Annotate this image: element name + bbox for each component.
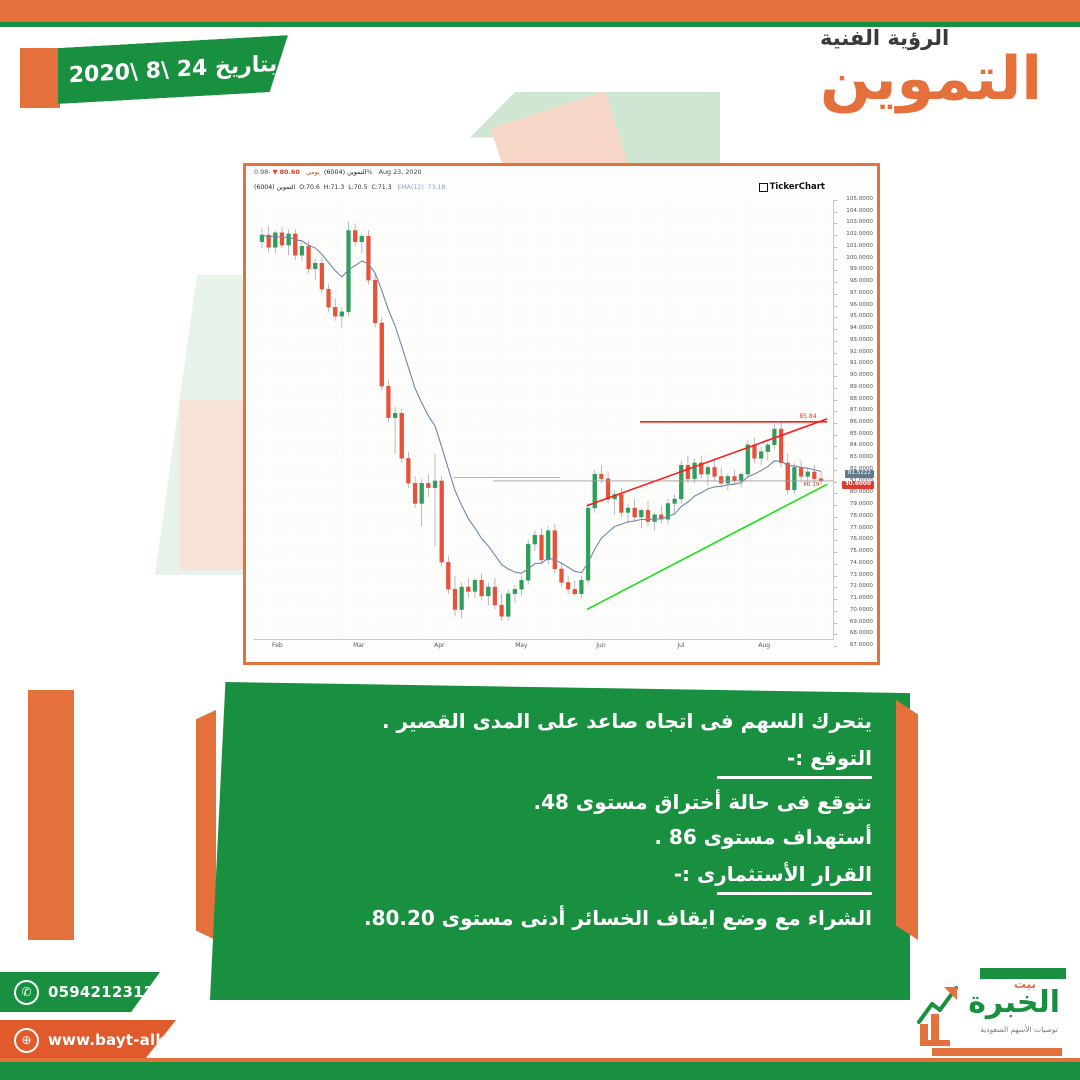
price-axis-tick [834,493,837,494]
price-axis-label: 69.0000 [850,620,873,626]
price-axis-tick [834,482,837,483]
statement-line-4: الشراء مع وضع ايقاف الخسائر أدنى مستوى 8… [210,907,872,930]
price-axis-tick [834,259,837,260]
watermark-shape-4 [180,400,250,570]
ema-price-badge: 81.5222 [845,470,874,478]
price-axis-tick [834,623,837,624]
price-axis-label: 78.0000 [850,514,873,520]
brand-main-word: الخبرة [968,988,1060,1018]
time-axis-label: Mar [353,643,364,649]
statement-heading-2: القرار الأستثمارى :- [210,863,872,886]
price-axis-tick [834,388,837,389]
resistance-price-label: 85.84 [799,414,816,420]
ema-value: 73.18 [428,184,446,191]
price-axis-tick [834,540,837,541]
time-axis-label: Jun [596,643,605,649]
price-axis-label: 80.0000 [850,490,873,496]
channel-upper-trendline [587,419,827,506]
statement-panel: يتحرك السهم فى اتجاه صاعد على المدى القص… [210,682,910,1000]
price-axis-label: 79.0000 [850,502,873,508]
title-main: التموين [820,51,1042,108]
ohlc-close: C:71.3 [371,184,391,191]
price-axis-label: 74.0000 [850,561,873,567]
chart-quote-line: التموين (6004) يومي 80.60 ▼ -0.98% Aug 2… [254,169,422,175]
statement-rule-2 [717,892,872,895]
time-axis-label: May [515,643,527,649]
chart-grid [254,200,833,640]
last-price-badge: 80.6000 [842,481,874,490]
ohlc-low: L:70.5 [348,184,367,191]
whatsapp-contact[interactable]: ✆ 0594212312 [0,972,160,1012]
ema-label: EMA(12) [398,184,424,191]
price-axis-tick [834,411,837,412]
chart-timeframe: يومي [306,168,320,176]
date-badge: بتاريخ 24 \8 \2020 [58,35,288,104]
price-axis-tick [834,282,837,283]
price-axis-label: 72.0000 [850,584,873,590]
green-panel-right-sliver [896,700,918,940]
website-url: www.bayt-alkhebra.org [48,1031,251,1049]
price-axis-label: 100.0000 [846,256,873,262]
website-contact[interactable]: ⊕ www.bayt-alkhebra.org [0,1020,176,1060]
price-axis-tick [834,646,837,647]
price-axis-label: 105.0000 [846,197,873,203]
price-axis-tick [834,599,837,600]
price-axis-tick [834,552,837,553]
price-axis-tick [834,200,837,201]
price-axis-label: 67.0000 [850,643,873,649]
statement-line-3: أستهداف مستوى 86 . [210,826,872,849]
price-axis-label: 97.0000 [850,291,873,297]
brand-logo: بيت الخبرة توصيات الأسهم السعودية [906,966,1066,1058]
last-price-inline-label: 80.19 [803,483,819,489]
price-axis-tick [834,446,837,447]
time-axis-label: Aug [758,643,770,649]
chart-ohlc-line: التموين (6004) O:70.6 H:71.3 L:70.5 C:71… [254,185,445,191]
price-axis-tick [834,505,837,506]
left-orange-accent-top [20,48,60,108]
price-axis-label: 88.0000 [850,397,873,403]
price-axis-tick [834,517,837,518]
price-axis-label: 68.0000 [850,631,873,637]
chart-plot-area: 85.8480.19 [254,200,833,640]
statement-line-2: نتوقع فى حالة أختراق مستوى 48. [210,791,872,814]
price-axis-label: 99.0000 [850,267,873,273]
time-axis-label: Apr [434,643,444,649]
statement-rule-1 [717,776,872,779]
date-badge-label: بتاريخ 24 \8 \2020 [69,51,278,88]
chart-symbol-code: (6004) [324,168,345,176]
price-axis-label: 70.0000 [850,608,873,614]
price-axis-tick [834,529,837,530]
price-axis-tick [834,423,837,424]
price-axis-tick [834,223,837,224]
price-axis-label: 75.0000 [850,549,873,555]
time-axis-label: Feb [272,643,283,649]
down-arrow-icon: ▼ [273,168,278,176]
bottom-green-band [0,1062,1080,1080]
price-axis-label: 93.0000 [850,338,873,344]
ema-overlay-line [262,235,821,573]
price-axis-tick [834,458,837,459]
price-axis-label: 73.0000 [850,573,873,579]
time-axis: FebMarAprMayJunJulAug [254,639,833,660]
statement-heading-1: التوقع :- [210,747,872,770]
price-axis-tick [834,364,837,365]
left-orange-accent-bottom [28,690,74,940]
growth-arrow-icon [916,982,962,1028]
price-axis-tick [834,294,837,295]
price-axis-tick [834,435,837,436]
price-axis-tick [834,212,837,213]
price-axis-tick [834,587,837,588]
brand-orange-bar [932,1048,1062,1056]
globe-icon: ⊕ [14,1028,39,1053]
candlestick-svg [254,200,833,640]
price-axis-label: 92.0000 [850,350,873,356]
price-axis-label: 85.0000 [850,432,873,438]
price-axis-tick [834,376,837,377]
top-orange-band [0,0,1080,22]
price-axis-label: 89.0000 [850,385,873,391]
price-axis-tick [834,341,837,342]
price-axis-tick [834,317,837,318]
price-axis-tick [834,306,837,307]
price-axis-label: 90.0000 [850,373,873,379]
ohlc-high: H:71.3 [324,184,345,191]
tickerchart-logo: TickerChart [759,182,825,192]
price-axis-label: 101.0000 [846,244,873,250]
green-panel-left-sliver [196,710,216,940]
chart-panel: التموين (6004) يومي 80.60 ▼ -0.98% Aug 2… [243,163,880,665]
price-axis-label: 86.0000 [850,420,873,426]
price-axis-tick [834,235,837,236]
poster-canvas: بتاريخ 24 \8 \2020 الرؤية الفنية التموين… [0,0,1080,1080]
price-axis-tick [834,576,837,577]
chart-symbol-name: التموين [347,168,366,176]
tickerchart-mark-icon [759,183,768,192]
page-title: الرؤية الفنية التموين [820,28,1042,108]
price-axis-tick [834,564,837,565]
price-axis-tick [834,247,837,248]
price-axis-label: 71.0000 [850,596,873,602]
whatsapp-icon: ✆ [14,980,39,1005]
price-axis-label: 94.0000 [850,326,873,332]
price-axis-label: 83.0000 [850,455,873,461]
price-axis-label: 76.0000 [850,537,873,543]
price-axis-label: 77.0000 [850,526,873,532]
ohlc-open: O:70.6 [299,184,320,191]
price-axis: 105.0000104.0000103.0000102.0000101.0000… [833,200,875,640]
ohlc-symbol-code: (6004) [254,184,275,191]
price-axis-tick [834,400,837,401]
price-axis-label: 96.0000 [850,303,873,309]
price-axis-label: 103.0000 [846,220,873,226]
price-axis-label: 102.0000 [846,232,873,238]
chart-date: Aug 23, 2020 [379,168,422,176]
price-axis-label: 84.0000 [850,443,873,449]
price-axis-label: 87.0000 [850,408,873,414]
price-axis-tick [834,634,837,635]
price-axis-tick [834,270,837,271]
price-axis-tick [834,353,837,354]
ohlc-symbol-name: التموين [277,184,296,191]
price-axis-label: 91.0000 [850,361,873,367]
price-axis-tick [834,611,837,612]
whatsapp-number: 0594212312 [48,983,154,1001]
price-axis-label: 95.0000 [850,314,873,320]
statement-line-1: يتحرك السهم فى اتجاه صاعد على المدى القص… [210,710,872,733]
chart-last-price: 80.60 [280,168,300,176]
time-axis-label: Jul [677,643,684,649]
brand-tagline: توصيات الأسهم السعودية [980,1026,1058,1034]
price-axis-label: 98.0000 [850,279,873,285]
tickerchart-label: TickerChart [770,182,825,192]
price-axis-tick [834,470,837,471]
chart-header: التموين (6004) يومي 80.60 ▼ -0.98% Aug 2… [246,166,877,198]
price-axis-tick [834,329,837,330]
price-axis-label: 104.0000 [846,209,873,215]
